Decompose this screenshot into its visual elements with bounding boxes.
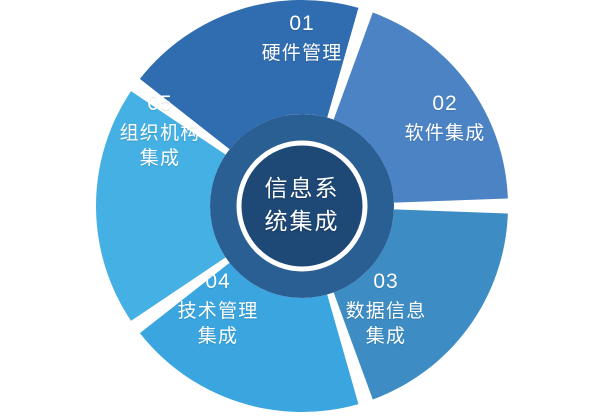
donut-wheel-graphic [0,0,605,420]
center-circle [239,143,365,269]
diagram-canvas: 01 硬件管理 02 软件集成 03 数据信息 集成 04 技术管理 集成 05… [0,0,605,420]
